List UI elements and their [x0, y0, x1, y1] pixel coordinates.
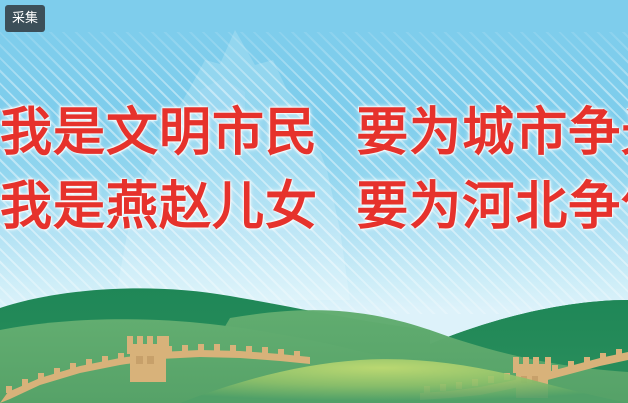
slogan-line-2: 我是燕赵儿女 要为河北争气 [0, 170, 628, 244]
capture-badge[interactable]: 采集 [5, 5, 45, 32]
slogan-line-1: 我是文明市民 要为城市争光 [0, 96, 628, 170]
slogan-text-block: 我是文明市民 要为城市争光 我是燕赵儿女 要为河北争气 [0, 96, 628, 244]
banner-image: 我是文明市民 要为城市争光 我是燕赵儿女 要为河北争气 采集 [0, 0, 628, 403]
